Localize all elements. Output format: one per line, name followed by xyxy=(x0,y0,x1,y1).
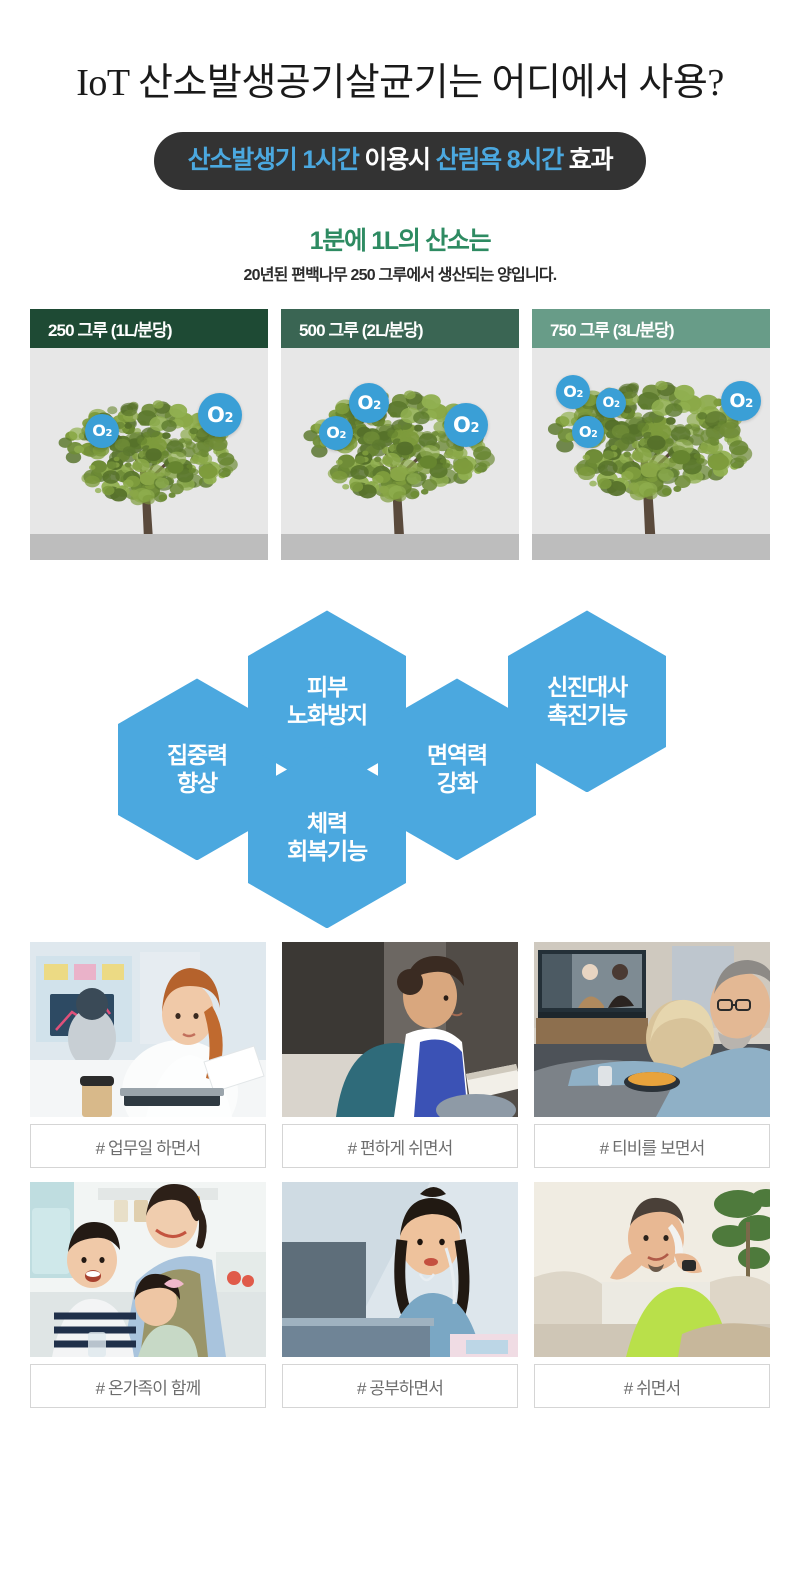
oxygen-subtitle-block: 1분에 1L의 산소는 20년된 편백나무 250 그루에서 생산되는 양입니다… xyxy=(0,226,800,287)
usage-scene-caption: # 쉬면서 xyxy=(534,1364,770,1408)
usage-scene-photo-woman-reading-chair xyxy=(282,942,518,1117)
usage-scene-cell: # 편하게 쉬면서 xyxy=(282,942,518,1168)
tree-card-500: 500 그루 (2L/분당) O2O2O2 xyxy=(281,309,519,560)
usage-scene-caption: # 편하게 쉬면서 xyxy=(282,1124,518,1168)
tree-comparison-row: 250 그루 (1L/분당) O2O2500 그루 (2L/분당) O2O2O2… xyxy=(0,309,800,560)
benefit-hexagon-label: 면역력강화 xyxy=(427,741,487,797)
tree-card-label: 500 그루 (2L/분당) xyxy=(281,309,519,348)
badge-text-part4: 효과 xyxy=(569,146,613,174)
tree-card-label: 250 그루 (1L/분당) xyxy=(30,309,268,348)
headline-badge: 산소발생기 1시간 이용시 산림욕 8시간 효과 xyxy=(154,132,647,190)
oxygen-subtitle-desc: 20년된 편백나무 250 그루에서 생산되는 양입니다. xyxy=(0,266,800,287)
tree-illustration: O2O2 xyxy=(30,348,268,560)
usage-scene-cell: # 업무일 하면서 xyxy=(30,942,266,1168)
tree-card-750: 750 그루 (3L/분당) O2O2O2O2 xyxy=(532,309,770,560)
usage-scene-cell: # 티비를 보면서 xyxy=(534,942,770,1168)
usage-scene-photo-couple-watching-tv xyxy=(534,942,770,1117)
usage-scene-photo-family-kitchen xyxy=(30,1182,266,1357)
usage-scene-cell: # 온가족이 함께 xyxy=(30,1182,266,1408)
page-title: IoT 산소발생공기살균기는 어디에서 사용? xyxy=(0,0,800,106)
headline-badge-wrapper: 산소발생기 1시간 이용시 산림욕 8시간 효과 xyxy=(0,132,800,190)
usage-scene-photo-man-sofa-phone xyxy=(534,1182,770,1357)
ground-strip xyxy=(532,534,770,560)
usage-scene-photo-office-woman-documents xyxy=(30,942,266,1117)
usage-scene-caption: # 온가족이 함께 xyxy=(30,1364,266,1408)
ground-strip xyxy=(30,534,268,560)
tree-illustration: O2O2O2O2 xyxy=(532,348,770,560)
tree-illustration: O2O2O2 xyxy=(281,348,519,560)
benefits-hexagon-cluster: 집중력향상피부노화방지체력회복기능면역력강화신진대사촉진기능 xyxy=(0,598,800,928)
usage-scene-cell: # 공부하면서 xyxy=(282,1182,518,1408)
badge-text-part2: 이용시 xyxy=(364,146,429,174)
usage-scene-grid: # 업무일 하면서 # 편하게 쉬면서 xyxy=(0,942,800,1408)
benefit-hexagon-label: 체력회복기능 xyxy=(287,809,367,865)
benefit-hexagon-label: 집중력향상 xyxy=(167,741,227,797)
usage-scene-caption: # 업무일 하면서 xyxy=(30,1124,266,1168)
badge-text-part3: 산림욕 8시간 xyxy=(436,146,563,174)
usage-scene-cell: # 쉬면서 xyxy=(534,1182,770,1408)
benefit-hexagon-label: 피부노화방지 xyxy=(287,673,367,729)
tree-card-label: 750 그루 (3L/분당) xyxy=(532,309,770,348)
oxygen-subtitle-main: 1분에 1L의 산소는 xyxy=(0,226,800,256)
ground-strip xyxy=(281,534,519,560)
tree-card-250: 250 그루 (1L/분당) O2O2 xyxy=(30,309,268,560)
badge-text-part1: 산소발생기 1시간 xyxy=(188,146,359,174)
usage-scene-caption: # 티비를 보면서 xyxy=(534,1124,770,1168)
benefit-hexagon-label: 신진대사촉진기능 xyxy=(547,673,627,729)
usage-scene-caption: # 공부하면서 xyxy=(282,1364,518,1408)
usage-scene-photo-student-laptop-study xyxy=(282,1182,518,1357)
